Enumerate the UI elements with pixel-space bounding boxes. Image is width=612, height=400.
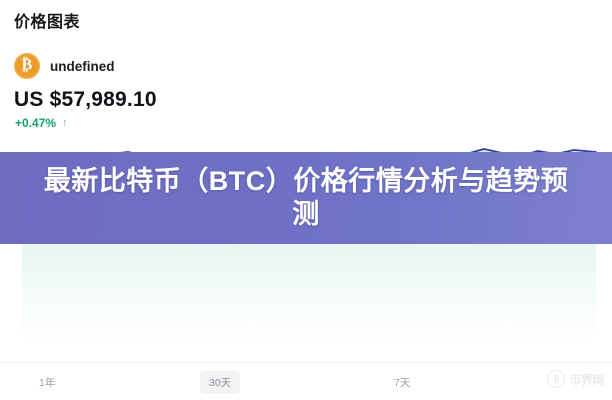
tab-range-7d[interactable]: 7天 xyxy=(385,371,419,394)
price-value: US $57,989.10 xyxy=(14,88,157,112)
watermark-text: 币界网 xyxy=(569,371,604,388)
bitcoin-icon: ₿ xyxy=(14,53,40,79)
price-change: +0.47% ↑ xyxy=(15,116,68,130)
banner-headline: 最新比特币（BTC）价格行情分析与趋势预测 xyxy=(41,165,571,231)
range-tabbar: 1年 30天 7天 xyxy=(0,362,612,400)
coin-name-label: undefined xyxy=(50,59,115,74)
tab-range-1y[interactable]: 1年 xyxy=(30,371,64,394)
tab-range-30d[interactable]: 30天 xyxy=(200,371,240,394)
coin-identity: ₿ undefined xyxy=(14,53,115,79)
page-title: 价格图表 xyxy=(14,8,80,32)
article-headline-banner: 最新比特币（BTC）价格行情分析与趋势预测 xyxy=(0,152,612,244)
bitcoin-glyph: ₿ xyxy=(22,58,33,74)
site-watermark: ₿ 币界网 xyxy=(547,370,604,388)
arrow-up-icon: ↑ xyxy=(62,117,68,129)
price-chart-widget: 价格图表 ₿ undefined US $57,989.10 +0.47% ↑ xyxy=(0,0,612,400)
price-change-percent: +0.47% xyxy=(15,116,56,130)
watermark-bitcoin-icon: ₿ xyxy=(547,370,565,388)
